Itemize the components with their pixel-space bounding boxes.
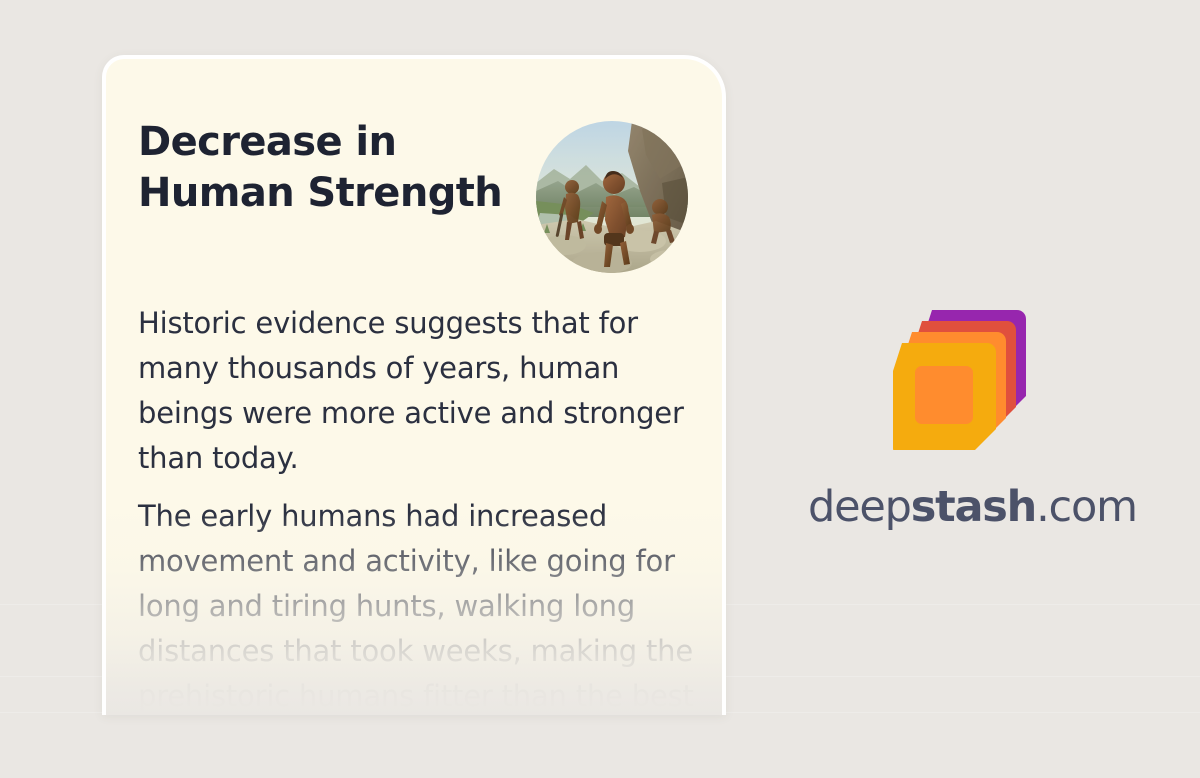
brand-block: deepstash.com bbox=[808, 300, 1120, 532]
page-title: Decrease in Human Strength bbox=[138, 117, 518, 219]
card-surface: Decrease in Human Strength bbox=[102, 55, 726, 715]
content-card[interactable]: Decrease in Human Strength bbox=[102, 55, 726, 715]
brand-wordmark: deepstash.com bbox=[808, 482, 1120, 532]
card-inner: Decrease in Human Strength bbox=[106, 59, 722, 715]
card-paragraph: The early humans had increased movement … bbox=[138, 494, 698, 715]
deepstash-stacked-squares-logo bbox=[888, 300, 1040, 450]
wordmark-domain: .com bbox=[1036, 482, 1137, 532]
card-paragraph: Historic evidence suggests that for many… bbox=[138, 301, 698, 481]
wordmark-stash: stash bbox=[911, 482, 1036, 532]
card-header: Decrease in Human Strength bbox=[138, 117, 698, 273]
wordmark-deep: deep bbox=[808, 482, 911, 532]
prehistoric-humans-photo bbox=[536, 121, 688, 273]
card-body: Historic evidence suggests that for many… bbox=[138, 301, 698, 715]
